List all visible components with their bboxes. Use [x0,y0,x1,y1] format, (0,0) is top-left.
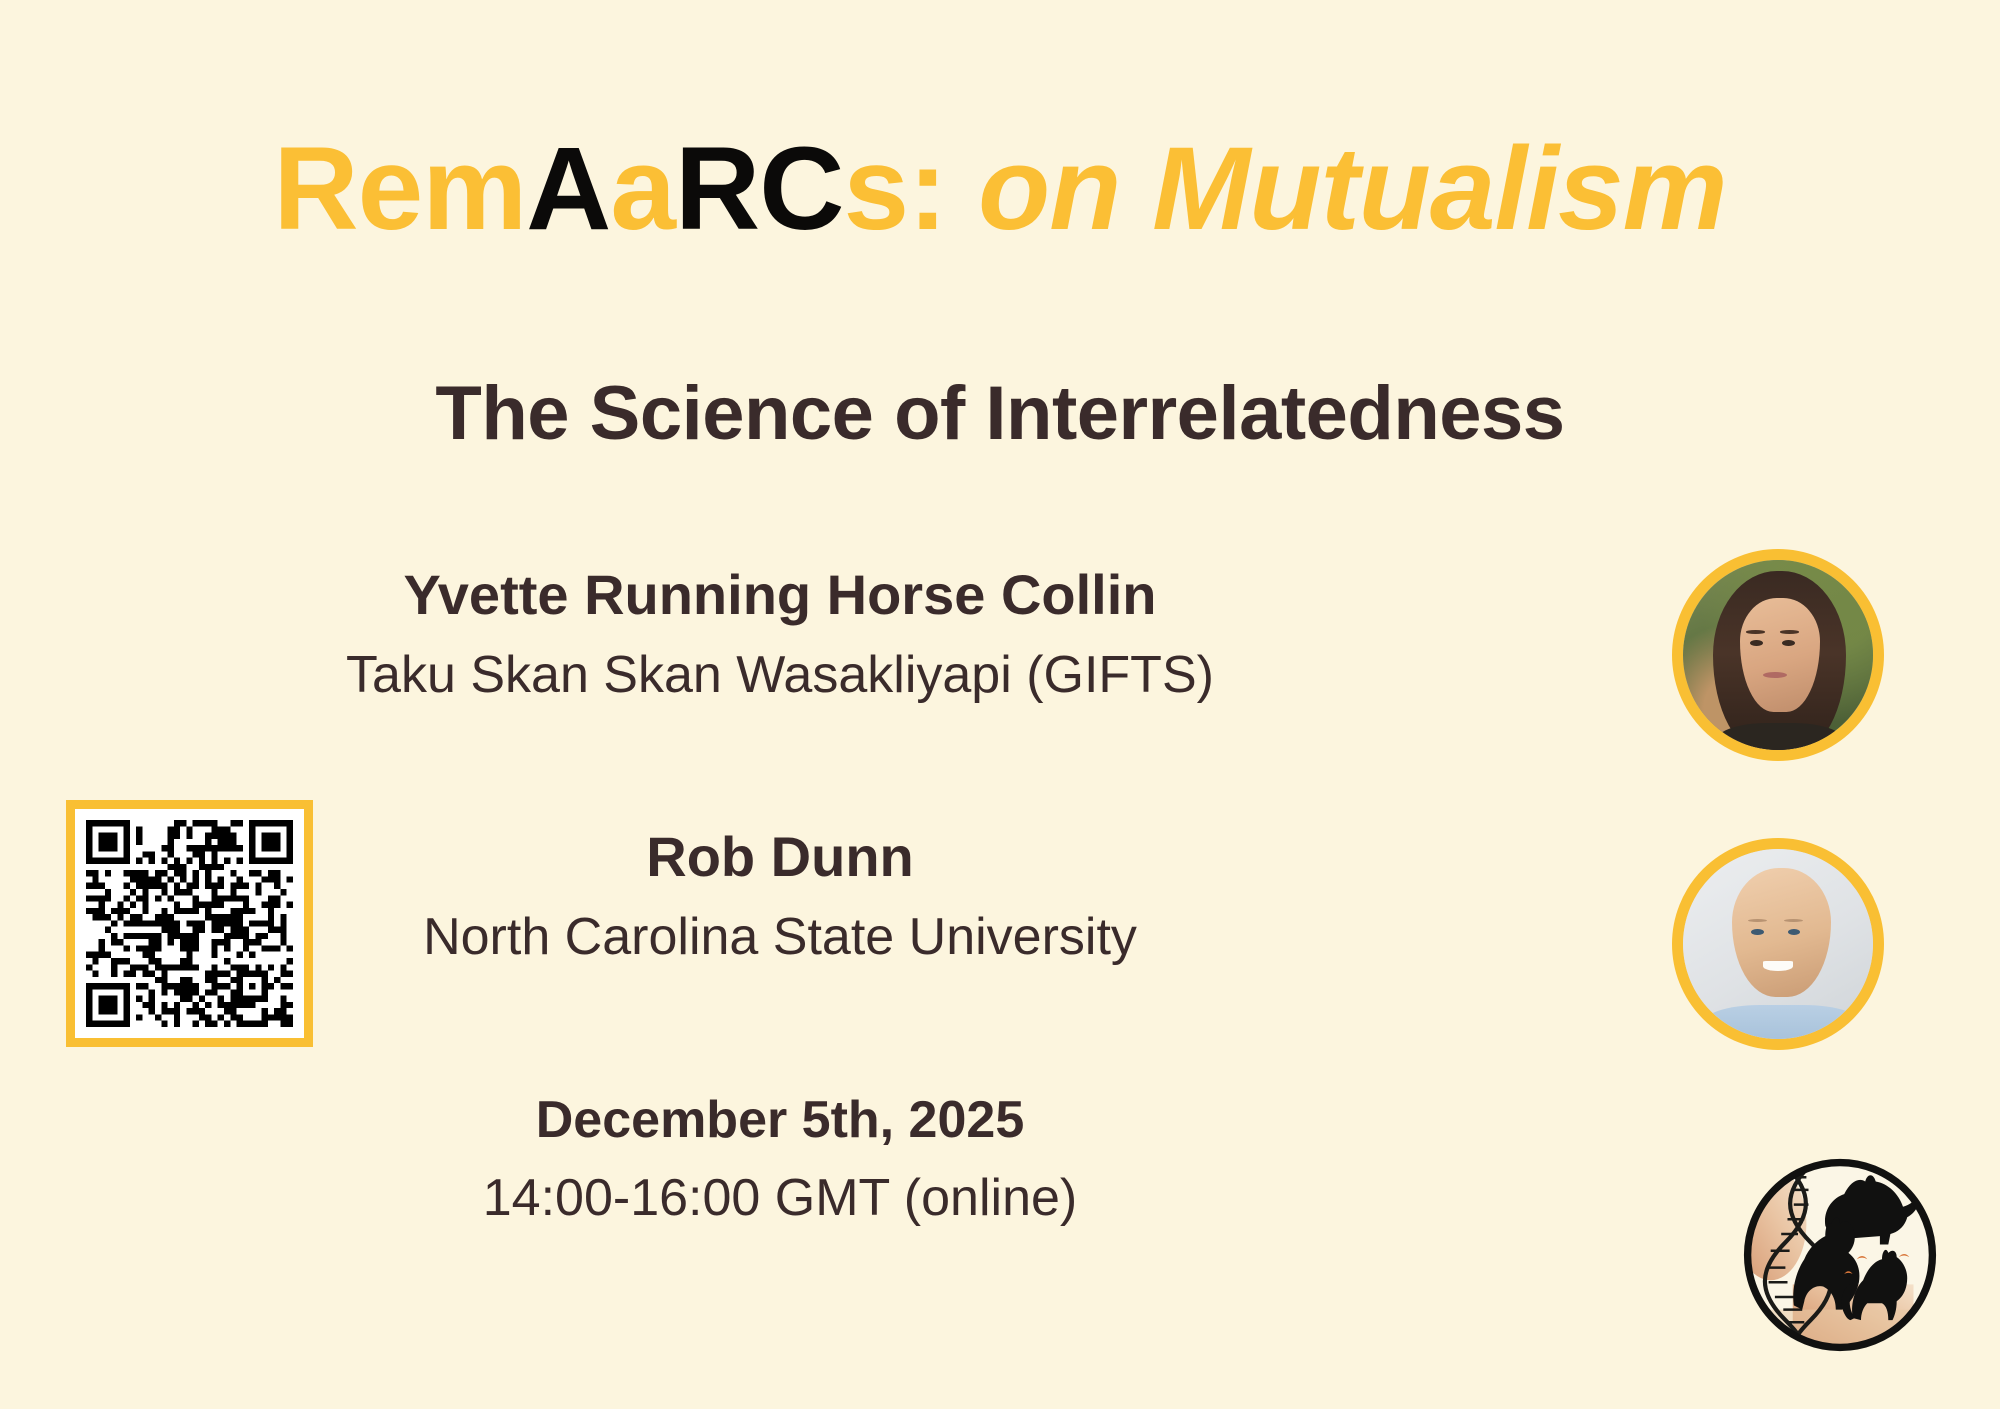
event-time: 14:00-16:00 GMT (online) [0,1168,1560,1228]
registration-qr-code[interactable] [66,800,313,1047]
animal-dna-circle-logo [1735,1150,1945,1360]
portrait-photo-yvette [1683,560,1873,750]
title-part-a-low: a [610,123,675,255]
logo-svg [1735,1150,1945,1360]
face-shape [1740,598,1820,712]
title-part-a-cap: A [526,123,610,255]
brow-right [1780,630,1799,633]
speaker-entry-1: Yvette Running Horse Collin Taku Skan Sk… [0,560,1560,710]
page-title: RemAaRCs: on Mutualism [0,128,2000,252]
speaker-name-1: Yvette Running Horse Collin [0,560,1560,630]
event-datetime: December 5th, 2025 14:00-16:00 GMT (onli… [0,1090,1560,1228]
eye-right [1788,929,1800,935]
title-part-s: s: [843,123,946,255]
event-date: December 5th, 2025 [0,1090,1560,1150]
page-subtitle: The Science of Interrelatedness [0,370,2000,457]
title-part-rem: Rem [273,123,526,255]
eye-left [1751,929,1763,935]
poster-canvas: RemAaRCs: on Mutualism The Science of In… [0,0,2000,1409]
title-part-on-mutualism: on Mutualism [946,123,1726,255]
avatar-speaker-2 [1672,838,1884,1050]
portrait-photo-rob [1683,849,1873,1039]
title-part-rc: RC [675,123,843,255]
head-shape [1732,868,1831,997]
avatar-speaker-1 [1672,549,1884,761]
speaker-affiliation-1: Taku Skan Skan Wasakliyapi (GIFTS) [0,642,1560,710]
eye-left [1750,640,1763,646]
torso-shape [1717,723,1842,761]
shirt-shape [1702,1005,1862,1050]
brow-left [1746,630,1765,633]
smile-shape [1763,961,1793,971]
qr-code-image [86,820,293,1027]
